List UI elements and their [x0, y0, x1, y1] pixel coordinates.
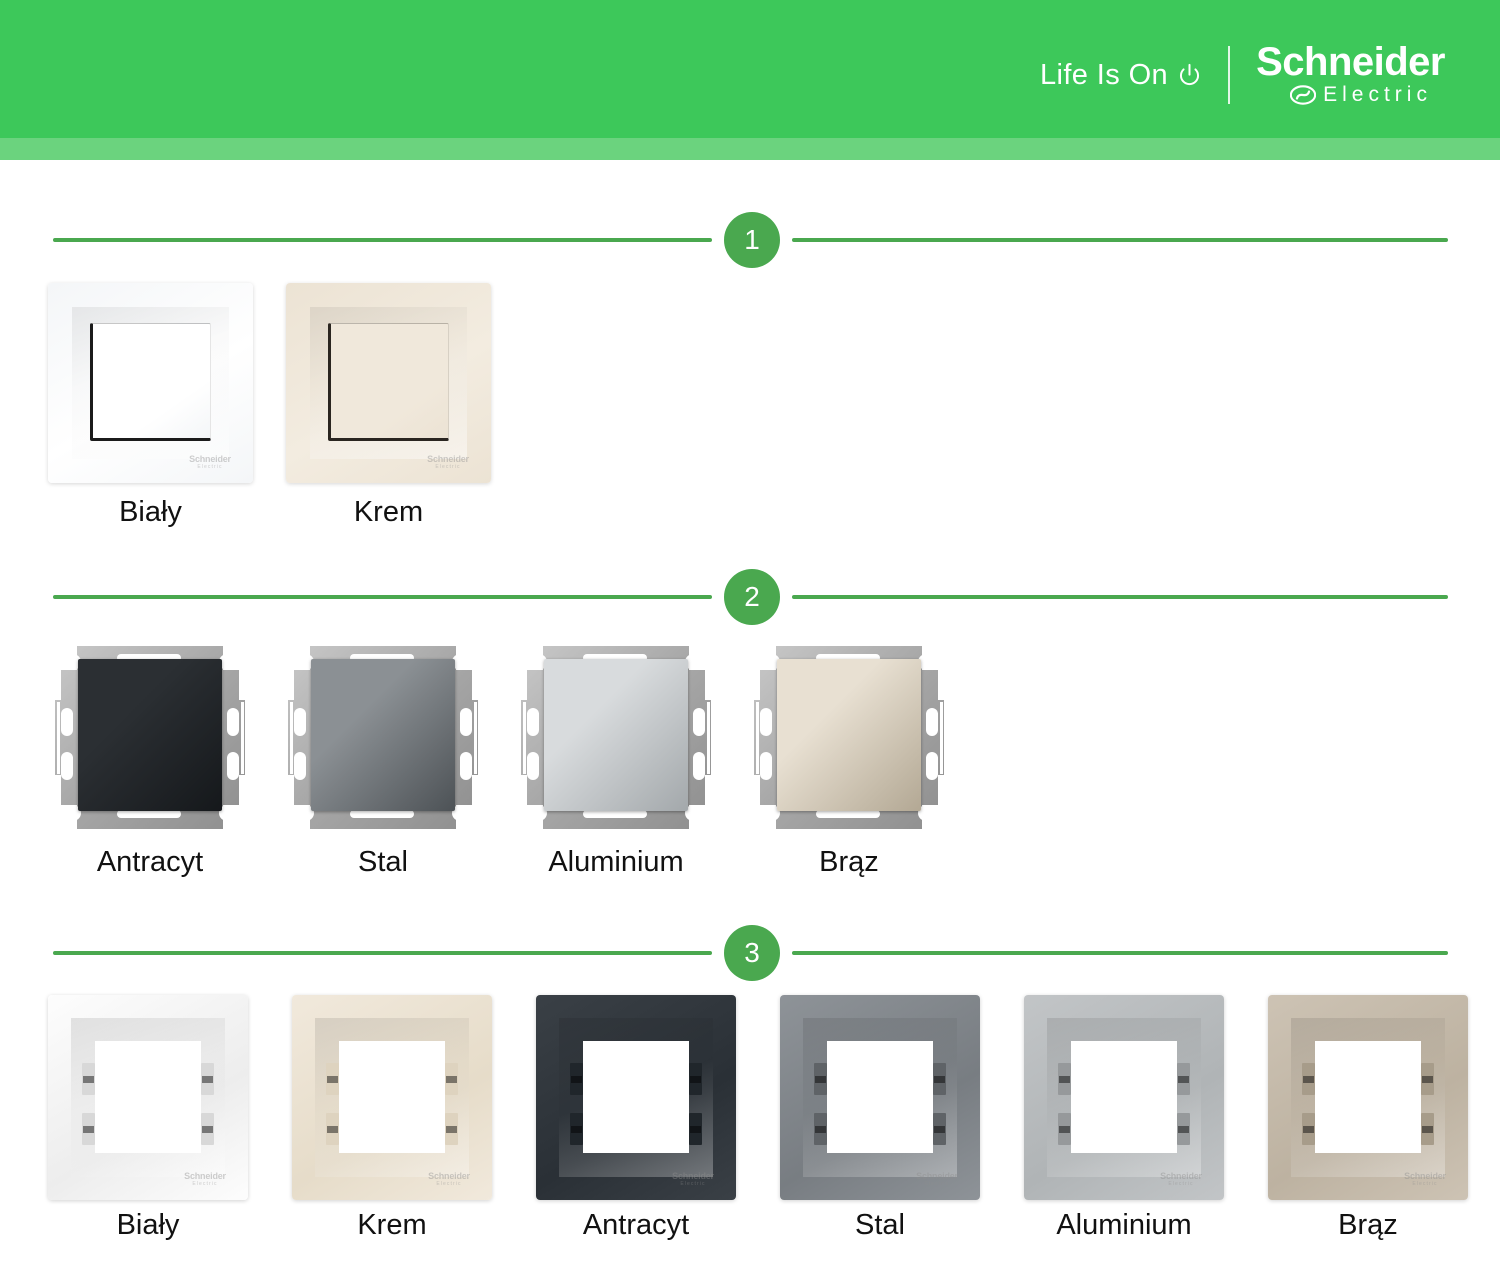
frame-opening [1315, 1041, 1421, 1153]
divider-line-left [53, 595, 712, 599]
frame-mounting-clip [570, 1063, 583, 1095]
electric-row: Electric [1290, 83, 1432, 107]
mechanism-button[interactable] [544, 659, 688, 811]
clip-nub [571, 1126, 582, 1133]
product-label: Krem [354, 496, 423, 529]
switch-product-image[interactable]: SchneiderElectric [286, 283, 491, 483]
clip-nub [1422, 1076, 1433, 1083]
product-logo-name: Schneider [1160, 1172, 1202, 1181]
frame-product-image[interactable]: SchneiderElectric [536, 995, 736, 1200]
product-logo-sub: Electric [924, 1182, 949, 1187]
frame-mounting-clip [1177, 1113, 1190, 1145]
product-schneider-logo: SchneiderElectric [1394, 1166, 1456, 1192]
clip-nub [83, 1126, 94, 1133]
frame-mounting-clip [1177, 1063, 1190, 1095]
mechanism-button[interactable] [311, 659, 455, 811]
product-schneider-logo: SchneiderElectric [662, 1166, 724, 1192]
frame-opening [827, 1041, 933, 1153]
product-item[interactable]: Antracyt [55, 640, 245, 879]
frame-mounting-clip [326, 1113, 339, 1145]
product-schneider-logo: SchneiderElectric [906, 1166, 968, 1192]
life-is-on-tagline: Life Is On [1040, 59, 1202, 92]
product-label: Biały [117, 1209, 180, 1242]
frame-mounting-clip [689, 1113, 702, 1145]
product-label: Stal [358, 846, 408, 879]
product-logo-sub: Electric [1412, 1182, 1437, 1187]
frame-product-image[interactable]: SchneiderElectric [1024, 995, 1224, 1200]
clip-nub [815, 1076, 826, 1083]
switch-rocker-plate[interactable] [90, 323, 211, 441]
frame-mounting-clip [1302, 1113, 1315, 1145]
clip-nub [202, 1076, 213, 1083]
frame-mounting-clip [1058, 1063, 1071, 1095]
frame-opening [95, 1041, 201, 1153]
product-item[interactable]: SchneiderElectricKrem [286, 283, 491, 529]
product-label: Antracyt [583, 1209, 689, 1242]
clip-nub [446, 1076, 457, 1083]
product-logo-sub: Electric [680, 1182, 705, 1187]
product-logo-sub: Electric [435, 465, 460, 470]
section-badge-1: 1 [724, 212, 780, 268]
frame-product-image[interactable]: SchneiderElectric [780, 995, 980, 1200]
product-item[interactable]: Stal [288, 640, 478, 879]
product-item[interactable]: SchneiderElectricAluminium [1024, 995, 1224, 1242]
frame-product-image[interactable]: SchneiderElectric [1268, 995, 1468, 1200]
frame-mounting-clip [689, 1063, 702, 1095]
product-logo-sub: Electric [197, 465, 222, 470]
brand-divider [1228, 46, 1230, 104]
frame-mounting-clip [82, 1063, 95, 1095]
clip-nub [1422, 1126, 1433, 1133]
frame-opening [339, 1041, 445, 1153]
frame-product-image[interactable]: SchneiderElectric [292, 995, 492, 1200]
product-label: Biały [119, 496, 182, 529]
product-logo-name: Schneider [1404, 1172, 1446, 1181]
mechanism-button[interactable] [78, 659, 222, 811]
clip-nub [690, 1126, 701, 1133]
clip-nub [327, 1076, 338, 1083]
frame-mounting-clip [1421, 1113, 1434, 1145]
frame-mounting-clip [201, 1063, 214, 1095]
product-row-mechanisms: AntracytStalAluminiumBrąz [0, 640, 1500, 879]
mechanism-product-image[interactable] [754, 640, 944, 835]
electric-wordmark: Electric [1323, 83, 1432, 107]
product-logo-name: Schneider [916, 1172, 958, 1181]
product-logo-sub: Electric [436, 1182, 461, 1187]
product-schneider-logo: SchneiderElectric [418, 1166, 480, 1192]
brand-block: Life Is On Schneider Electric [1040, 44, 1445, 106]
section-divider-2: 2 [0, 569, 1500, 625]
product-item[interactable]: Brąz [754, 640, 944, 879]
frame-mounting-clip [570, 1113, 583, 1145]
clip-nub [1178, 1076, 1189, 1083]
mechanism-button[interactable] [777, 659, 921, 811]
product-item[interactable]: SchneiderElectricBiały [48, 283, 253, 529]
product-label: Aluminium [548, 846, 683, 879]
frame-mounting-clip [82, 1113, 95, 1145]
frame-mounting-clip [1058, 1113, 1071, 1145]
switch-rocker-plate[interactable] [328, 323, 449, 441]
schneider-wordmark: Schneider [1256, 43, 1445, 82]
clip-nub [1059, 1126, 1070, 1133]
frame-product-image[interactable]: SchneiderElectric [48, 995, 248, 1200]
life-is-on-text: Life Is On [1040, 59, 1168, 92]
section-badge-2: 2 [724, 569, 780, 625]
divider-line-left [53, 238, 712, 242]
product-logo-name: Schneider [184, 1172, 226, 1181]
clip-nub [446, 1126, 457, 1133]
mechanism-product-image[interactable] [288, 640, 478, 835]
product-schneider-logo: SchneiderElectric [1150, 1166, 1212, 1192]
frame-mounting-clip [445, 1113, 458, 1145]
product-label: Brąz [1338, 1209, 1398, 1242]
divider-line-left [53, 951, 712, 955]
clip-nub [1059, 1076, 1070, 1083]
clip-nub [202, 1126, 213, 1133]
product-item[interactable]: SchneiderElectricBrąz [1268, 995, 1468, 1242]
clip-nub [815, 1126, 826, 1133]
product-row-frames: SchneiderElectricBiałySchneiderElectricK… [0, 995, 1500, 1242]
product-row-switches: SchneiderElectricBiałySchneiderElectricK… [0, 283, 1500, 529]
clip-nub [83, 1076, 94, 1083]
product-label: Brąz [819, 846, 879, 879]
frame-mounting-clip [814, 1063, 827, 1095]
frame-opening [583, 1041, 689, 1153]
clip-nub [1303, 1126, 1314, 1133]
product-schneider-logo: SchneiderElectric [179, 449, 241, 475]
frame-mounting-clip [326, 1063, 339, 1095]
product-label: Krem [357, 1209, 426, 1242]
mechanism-product-image[interactable] [55, 640, 245, 835]
product-logo-name: Schneider [427, 455, 469, 464]
schneider-s-mark-icon [1290, 85, 1316, 105]
section-divider-1: 1 [0, 212, 1500, 268]
frame-mounting-clip [1421, 1063, 1434, 1095]
header-accent-strip [0, 138, 1500, 160]
schneider-electric-logo: Schneider Electric [1256, 43, 1445, 107]
product-schneider-logo: SchneiderElectric [174, 1166, 236, 1192]
section-divider-3: 3 [0, 925, 1500, 981]
frame-mounting-clip [201, 1113, 214, 1145]
product-label: Stal [855, 1209, 905, 1242]
product-item[interactable]: SchneiderElectricStal [780, 995, 980, 1242]
divider-line-right [792, 595, 1448, 599]
product-item[interactable]: SchneiderElectricAntracyt [536, 995, 736, 1242]
power-icon [1177, 63, 1202, 88]
switch-product-image[interactable]: SchneiderElectric [48, 283, 253, 483]
frame-mounting-clip [933, 1063, 946, 1095]
product-item[interactable]: Aluminium [521, 640, 711, 879]
frame-opening [1071, 1041, 1177, 1153]
product-label: Aluminium [1056, 1209, 1191, 1242]
clip-nub [1178, 1126, 1189, 1133]
product-item[interactable]: SchneiderElectricBiały [48, 995, 248, 1242]
mechanism-product-image[interactable] [521, 640, 711, 835]
product-logo-sub: Electric [192, 1182, 217, 1187]
section-badge-3: 3 [724, 925, 780, 981]
frame-mounting-clip [1302, 1063, 1315, 1095]
frame-mounting-clip [933, 1113, 946, 1145]
divider-line-right [792, 951, 1448, 955]
product-logo-name: Schneider [428, 1172, 470, 1181]
product-logo-sub: Electric [1168, 1182, 1193, 1187]
clip-nub [690, 1076, 701, 1083]
product-schneider-logo: SchneiderElectric [417, 449, 479, 475]
product-logo-name: Schneider [189, 455, 231, 464]
divider-line-right [792, 238, 1448, 242]
clip-nub [327, 1126, 338, 1133]
clip-nub [571, 1076, 582, 1083]
product-item[interactable]: SchneiderElectricKrem [292, 995, 492, 1242]
frame-mounting-clip [814, 1113, 827, 1145]
product-logo-name: Schneider [672, 1172, 714, 1181]
frame-mounting-clip [445, 1063, 458, 1095]
clip-nub [934, 1126, 945, 1133]
product-label: Antracyt [97, 846, 203, 879]
clip-nub [1303, 1076, 1314, 1083]
clip-nub [934, 1076, 945, 1083]
